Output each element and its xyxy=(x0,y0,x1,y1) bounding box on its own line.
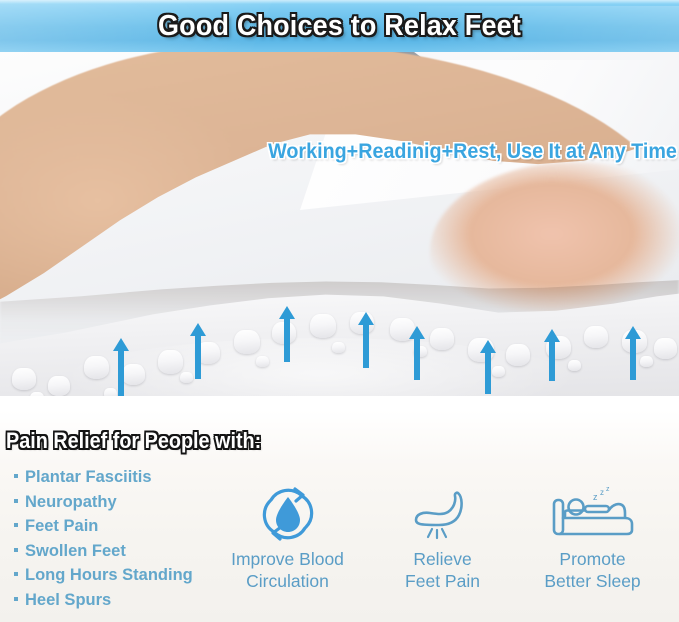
sleeping-person-bed-icon: z z z xyxy=(551,482,635,546)
bullet-square-icon xyxy=(14,523,18,527)
svg-text:z: z xyxy=(600,488,604,497)
bullet-square-icon xyxy=(14,499,18,503)
massage-nub xyxy=(654,338,677,359)
pressure-arrow-6 xyxy=(480,340,496,394)
photo-subtitle: Working+Readinig+Rest, Use It at Any Tim… xyxy=(268,140,677,164)
massage-nub xyxy=(12,368,36,390)
benefit-improve-blood-circulation: Improve Blood Circulation xyxy=(200,482,375,592)
massage-nub xyxy=(640,356,653,367)
benefit-label: Relieve Feet Pain xyxy=(405,548,480,592)
svg-text:z: z xyxy=(593,492,598,502)
massage-nub xyxy=(84,356,109,379)
benefit-relieve-feet-pain: Relieve Feet Pain xyxy=(375,482,510,592)
massage-nub xyxy=(506,344,530,366)
massage-nub xyxy=(584,326,608,348)
massage-nub xyxy=(256,356,269,367)
bullet-square-icon xyxy=(14,597,18,601)
massage-nub xyxy=(430,328,454,350)
pressure-arrow-8 xyxy=(625,326,641,380)
benefit-promote-better-sleep: z z z Promote Better Sleep xyxy=(510,482,675,592)
condition-label: Long Hours Standing xyxy=(25,563,193,588)
pressure-arrow-2 xyxy=(190,323,206,379)
massage-nub xyxy=(310,314,336,338)
benefit-label: Improve Blood Circulation xyxy=(231,548,344,592)
blood-circulation-icon xyxy=(257,482,319,546)
massage-nub xyxy=(332,342,345,353)
massage-nub xyxy=(158,350,183,374)
benefit-icon-row: Improve Blood Circulation Relieve Feet P… xyxy=(200,482,679,620)
pain-relief-heading: Pain Relief for People with: xyxy=(6,428,261,454)
condition-label: Swollen Feet xyxy=(25,539,126,564)
massage-nub xyxy=(48,376,70,396)
product-photo: Working+Readinig+Rest, Use It at Any Tim… xyxy=(0,52,679,452)
pressure-arrow-1 xyxy=(113,338,129,396)
condition-label: Feet Pain xyxy=(25,514,98,539)
condition-label: Plantar Fasciitis xyxy=(25,465,152,490)
pressure-arrow-3 xyxy=(279,306,295,362)
page-title: Good Choices to Relax Feet xyxy=(24,0,655,52)
header-banner: Good Choices to Relax Feet xyxy=(0,0,679,52)
pressure-arrow-4 xyxy=(358,312,374,368)
bullet-square-icon xyxy=(14,572,18,576)
pressure-arrow-5 xyxy=(409,326,425,380)
svg-text:z: z xyxy=(606,486,610,493)
product-feature-image: Good Choices to Relax Feet Working+Readi… xyxy=(0,0,679,622)
pressure-arrow-7 xyxy=(544,329,560,381)
bullet-square-icon xyxy=(14,474,18,478)
condition-label: Heel Spurs xyxy=(25,588,111,613)
massage-nub xyxy=(234,330,260,354)
condition-label: Neuropathy xyxy=(25,490,117,515)
benefit-label: Promote Better Sleep xyxy=(544,548,640,592)
massage-nub xyxy=(568,360,581,371)
foot-pain-relief-icon xyxy=(410,482,476,546)
bullet-square-icon xyxy=(14,548,18,552)
